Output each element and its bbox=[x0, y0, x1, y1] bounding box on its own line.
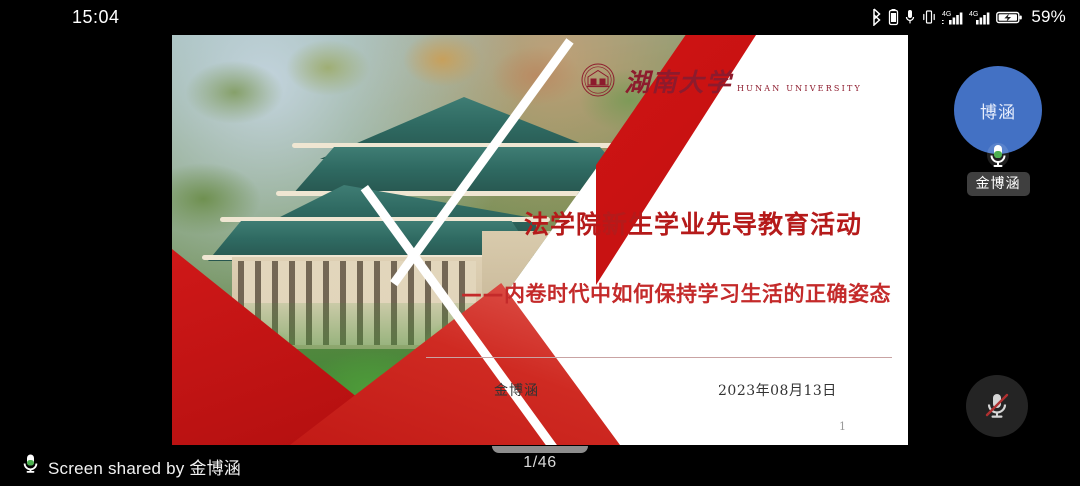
bluetooth-icon bbox=[870, 8, 883, 26]
logo-wordmark: 湖南大学 HUNAN UNIVERSITY bbox=[624, 70, 862, 95]
status-bar: 15:04 bbox=[0, 0, 1080, 34]
signal-4g-sim2-icon: 4G bbox=[969, 8, 991, 26]
participant-name-label: 金博涵 bbox=[967, 172, 1030, 196]
mute-toggle-button[interactable] bbox=[966, 375, 1028, 437]
slide-page-indicator: 1/46 bbox=[523, 454, 557, 472]
battery-charging-icon bbox=[996, 8, 1023, 26]
slide-page-number: 1 bbox=[839, 420, 846, 433]
svg-text:4G: 4G bbox=[942, 11, 951, 18]
slide-date: 2023年08月13日 bbox=[718, 380, 837, 400]
microphone-icon bbox=[904, 8, 916, 26]
slide-title: 法学院新生学业先导教育活动 bbox=[524, 205, 896, 241]
hunan-university-logo: 湖南大学 HUNAN UNIVERSITY bbox=[581, 63, 862, 102]
slide-divider-rule bbox=[426, 357, 892, 358]
battery-percent-label: 59% bbox=[1031, 7, 1066, 27]
avatar[interactable]: 博涵 bbox=[954, 66, 1042, 154]
university-seal-icon bbox=[581, 63, 615, 102]
logo-english-name: HUNAN UNIVERSITY bbox=[737, 84, 862, 93]
microphone-icon bbox=[22, 453, 39, 479]
bluetooth-battery-icon bbox=[888, 8, 899, 26]
avatar-microphone-icon bbox=[985, 140, 1011, 170]
status-clock: 15:04 bbox=[72, 7, 120, 28]
participant-tile[interactable]: 博涵 金博涵 bbox=[952, 66, 1044, 196]
avatar-initials: 博涵 bbox=[980, 98, 1016, 123]
vibrate-icon bbox=[921, 8, 937, 26]
screen-share-status: Screen shared by 金博涵 bbox=[22, 453, 241, 479]
slide-subtitle: ——内卷时代中如何保持学习生活的正确姿态 bbox=[461, 278, 891, 308]
status-icon-group: 4G 4G 59 bbox=[870, 6, 1066, 28]
logo-chinese-name: 湖南大学 bbox=[624, 68, 732, 97]
screen-share-label: Screen shared by 金博涵 bbox=[48, 454, 241, 479]
microphone-muted-icon bbox=[980, 388, 1014, 425]
slide-presenter-name: 金博涵 bbox=[494, 380, 539, 400]
bottom-bar: Screen shared by 金博涵 1/46 bbox=[0, 445, 1080, 486]
slide-canvas: 湖南大学 HUNAN UNIVERSITY 法学院新生学业先导教育活动 ——内卷… bbox=[172, 35, 908, 445]
svg-text:4G: 4G bbox=[969, 11, 978, 18]
shared-screen-slide[interactable]: 湖南大学 HUNAN UNIVERSITY 法学院新生学业先导教育活动 ——内卷… bbox=[172, 35, 908, 445]
signal-4g-sim1-icon: 4G bbox=[942, 8, 964, 26]
home-indicator bbox=[492, 446, 588, 453]
